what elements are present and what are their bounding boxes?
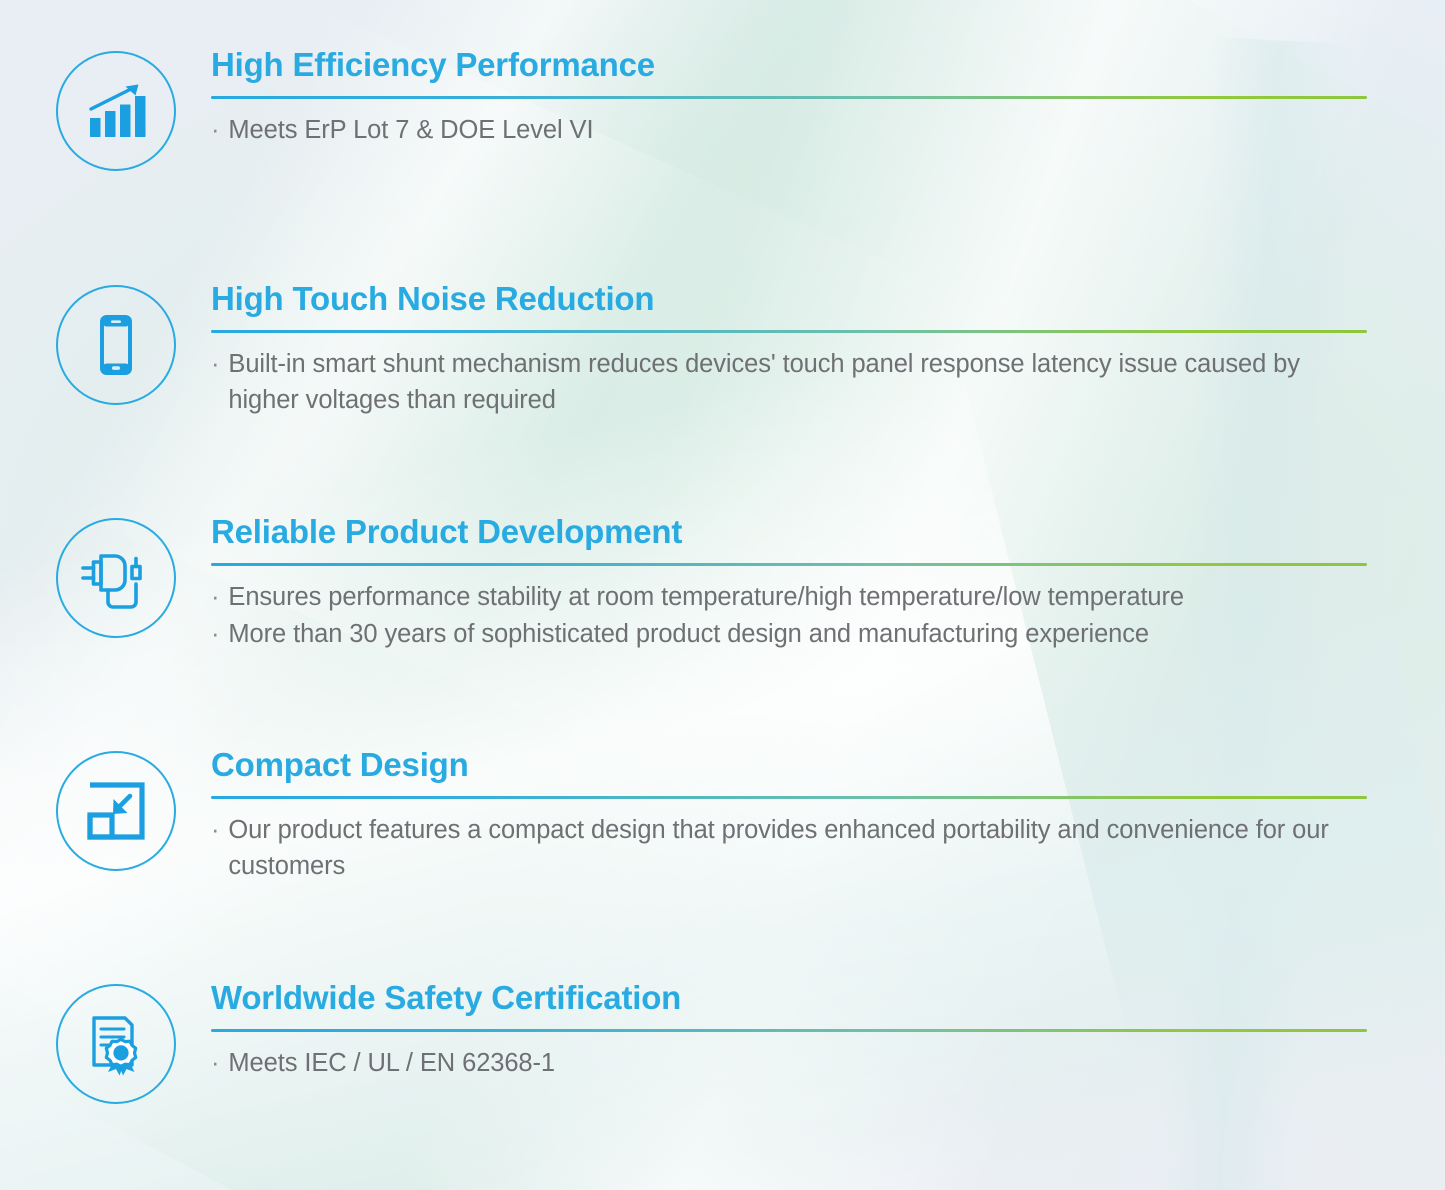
bullet-item: · Meets IEC / UL / EN 62368-1 [211, 1045, 1367, 1081]
feature-bullets: · Our product features a compact design … [211, 812, 1367, 884]
feature-bullets: · Ensures performance stability at room … [211, 579, 1367, 652]
bullet-marker: · [211, 112, 219, 148]
feature-icon-slot [53, 47, 179, 171]
feature-title: High Efficiency Performance [211, 47, 1367, 84]
feature-bullets: · Meets IEC / UL / EN 62368-1 [211, 1045, 1367, 1081]
power-adapter-icon [56, 518, 176, 638]
feature-title: Compact Design [211, 747, 1367, 784]
feature-divider [211, 1029, 1367, 1032]
bullet-item: · Ensures performance stability at room … [211, 579, 1367, 615]
bullet-marker: · [211, 579, 219, 615]
feature-icon-slot [53, 747, 179, 871]
bullet-marker: · [211, 616, 219, 652]
bar-chart-growth-icon [56, 51, 176, 171]
bullet-marker: · [211, 1045, 219, 1081]
feature-list: High Efficiency Performance · Meets ErP … [0, 0, 1445, 1190]
bullet-text: Built-in smart shunt mechanism reduces d… [228, 346, 1367, 418]
bullet-text: Meets IEC / UL / EN 62368-1 [228, 1045, 1367, 1081]
feature-bullets: · Built-in smart shunt mechanism reduces… [211, 346, 1367, 418]
feature-icon-slot [53, 281, 179, 405]
feature-item: Worldwide Safety Certification · Meets I… [0, 980, 1445, 1104]
feature-title: Reliable Product Development [211, 514, 1367, 551]
feature-content: Worldwide Safety Certification · Meets I… [211, 980, 1445, 1081]
bullet-marker: · [211, 346, 219, 382]
feature-item: High Touch Noise Reduction · Built-in sm… [0, 281, 1445, 418]
feature-content: High Efficiency Performance · Meets ErP … [211, 47, 1445, 148]
feature-content: Compact Design · Our product features a … [211, 747, 1445, 884]
bullet-text: Our product features a compact design th… [228, 812, 1367, 884]
feature-divider [211, 330, 1367, 333]
bullet-item: · Built-in smart shunt mechanism reduces… [211, 346, 1367, 418]
bullet-text: Meets ErP Lot 7 & DOE Level VI [228, 112, 1367, 148]
feature-item: Compact Design · Our product features a … [0, 747, 1445, 884]
smartphone-icon [56, 285, 176, 405]
bullet-item: · Meets ErP Lot 7 & DOE Level VI [211, 112, 1367, 148]
feature-title: Worldwide Safety Certification [211, 980, 1367, 1017]
feature-item: Reliable Product Development · Ensures p… [0, 514, 1445, 652]
bullet-item: · More than 30 years of sophisticated pr… [211, 616, 1367, 652]
feature-item: High Efficiency Performance · Meets ErP … [0, 47, 1445, 171]
shrink-resize-icon [56, 751, 176, 871]
feature-title: High Touch Noise Reduction [211, 281, 1367, 318]
certificate-award-icon [56, 984, 176, 1104]
feature-content: High Touch Noise Reduction · Built-in sm… [211, 281, 1445, 418]
feature-divider [211, 563, 1367, 566]
feature-content: Reliable Product Development · Ensures p… [211, 514, 1445, 652]
feature-divider [211, 96, 1367, 99]
feature-icon-slot [53, 514, 179, 638]
feature-bullets: · Meets ErP Lot 7 & DOE Level VI [211, 112, 1367, 148]
bullet-text: Ensures performance stability at room te… [228, 579, 1367, 615]
bullet-text: More than 30 years of sophisticated prod… [228, 616, 1367, 652]
bullet-item: · Our product features a compact design … [211, 812, 1367, 884]
feature-icon-slot [53, 980, 179, 1104]
bullet-marker: · [211, 812, 219, 848]
feature-divider [211, 796, 1367, 799]
